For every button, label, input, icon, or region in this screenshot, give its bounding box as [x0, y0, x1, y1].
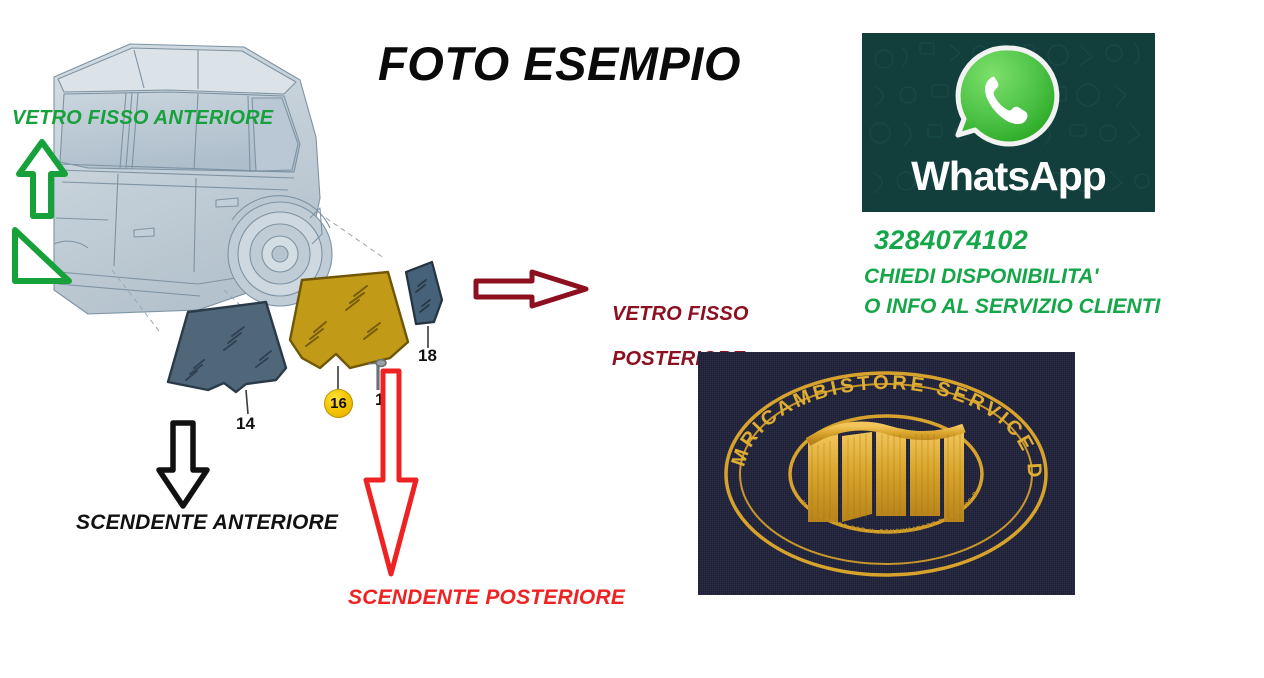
page-title: FOTO ESEMPIO — [378, 36, 798, 91]
shop-logo-photo: MRICAMBISTORE SERVICE DI RUSSO MARCO IL … — [698, 352, 1075, 595]
right-arrow-darkred-icon — [472, 268, 590, 310]
part-14-shape — [168, 302, 286, 392]
part-number-16-badge: 16 — [324, 389, 353, 418]
part-18-shape — [406, 262, 442, 324]
phone-number: 3284074102 — [874, 225, 1028, 256]
part-16-shape — [290, 272, 408, 368]
label-vetro-fisso-anteriore: VETRO FISSO ANTERIORE — [12, 107, 273, 129]
exploded-glass-parts: 14 16 17 18 — [150, 250, 480, 440]
label-vfp-line1: VETRO FISSO — [612, 303, 749, 325]
label-scendente-posteriore: SCENDENTE POSTERIORE — [348, 586, 625, 610]
down-arrow-black-icon — [155, 420, 211, 510]
contact-line-2: O INFO AL SERVIZIO CLIENTI — [864, 295, 1160, 319]
shop-logo-emblem: MRICAMBISTORE SERVICE DI RUSSO MARCO IL … — [698, 352, 1075, 595]
label-scendente-anteriore: SCENDENTE ANTERIORE — [76, 511, 338, 535]
part-number-18: 18 — [418, 346, 437, 366]
contact-line-1: CHIEDI DISPONIBILITA' — [864, 265, 1098, 289]
down-arrow-red-icon — [362, 368, 420, 580]
up-arrow-green-icon — [15, 138, 69, 220]
whatsapp-wordmark: WhatsApp — [862, 153, 1155, 200]
whatsapp-phone-bubble-icon — [950, 42, 1068, 160]
shop-logo-monogram — [808, 426, 964, 522]
triangle-green-icon — [10, 225, 74, 287]
whatsapp-banner: WhatsApp — [862, 33, 1155, 212]
part-number-14: 14 — [236, 414, 255, 434]
